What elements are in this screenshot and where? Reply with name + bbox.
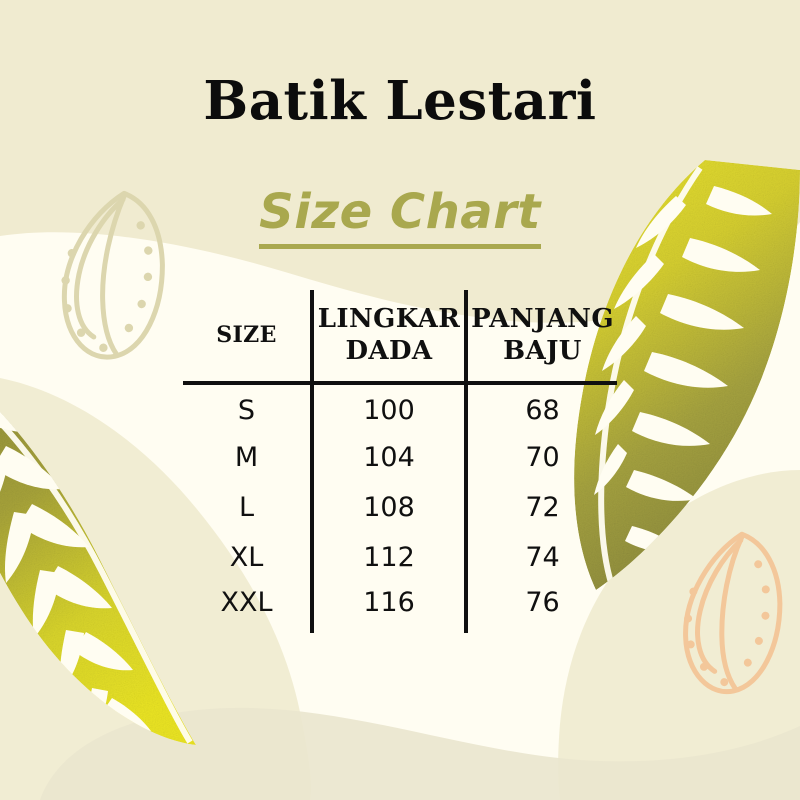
- column-header-size: SIZE: [183, 290, 312, 383]
- cell-panjang-baju: 74: [466, 533, 617, 583]
- table-body: S 100 68 M 104 70 L 108 72: [183, 383, 617, 633]
- column-header-panjang-baju: PANJANG BAJU: [466, 290, 617, 383]
- table-row: XXL 116 76: [183, 583, 617, 633]
- cell-size: XXL: [183, 583, 312, 633]
- cell-lingkar-dada: 108: [312, 483, 466, 533]
- cell-panjang-baju: 76: [466, 583, 617, 633]
- cell-size: M: [183, 433, 312, 483]
- subtitle-container: Size Chart: [0, 186, 800, 249]
- size-chart-graphic: Batik Lestari Size Chart SIZE LINGKAR DA…: [0, 0, 800, 800]
- table-row: L 108 72: [183, 483, 617, 533]
- table-header-row: SIZE LINGKAR DADA PANJANG BAJU: [183, 290, 617, 383]
- subtitle-size-chart: Size Chart: [259, 186, 541, 249]
- size-chart-table-container: SIZE LINGKAR DADA PANJANG BAJU S 100 68 …: [183, 290, 617, 633]
- cell-lingkar-dada: 112: [312, 533, 466, 583]
- cell-lingkar-dada: 104: [312, 433, 466, 483]
- cell-panjang-baju: 68: [466, 383, 617, 433]
- cell-lingkar-dada: 100: [312, 383, 466, 433]
- table-row: S 100 68: [183, 383, 617, 433]
- cell-size: L: [183, 483, 312, 533]
- size-chart-table: SIZE LINGKAR DADA PANJANG BAJU S 100 68 …: [183, 290, 617, 633]
- cell-size: S: [183, 383, 312, 433]
- table-row: XL 112 74: [183, 533, 617, 583]
- page-title: Batik Lestari: [0, 74, 800, 130]
- table-row: M 104 70: [183, 433, 617, 483]
- cell-panjang-baju: 72: [466, 483, 617, 533]
- cell-size: XL: [183, 533, 312, 583]
- column-header-lingkar-dada: LINGKAR DADA: [312, 290, 466, 383]
- cell-lingkar-dada: 116: [312, 583, 466, 633]
- cell-panjang-baju: 70: [466, 433, 617, 483]
